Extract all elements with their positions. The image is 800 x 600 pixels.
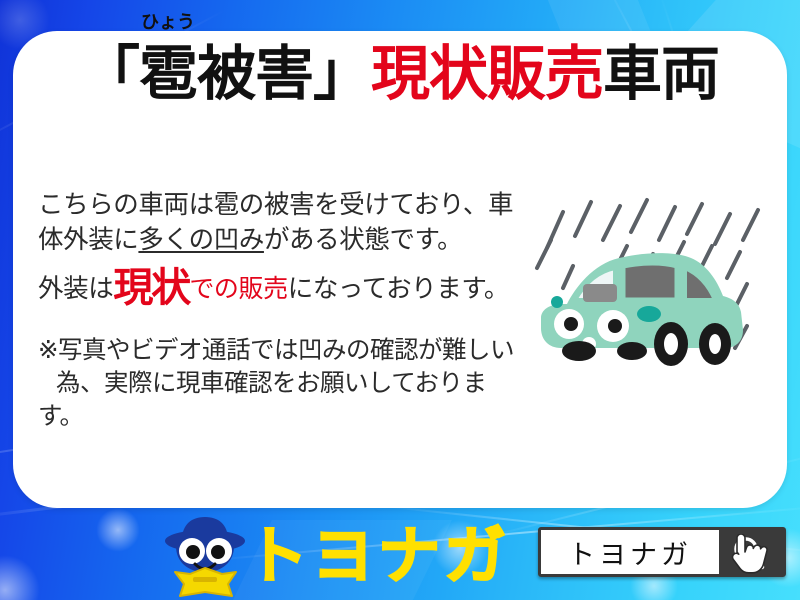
search-input-value: トヨナガ <box>568 533 692 572</box>
toyonaga-mascot-icon <box>162 514 248 598</box>
note-line-2: 為、実際に現車確認をお願いしております。 <box>38 368 487 430</box>
title-segment-black-2: 車両 <box>603 39 719 108</box>
paragraph2-emphasis-hanbai: での販売 <box>189 274 287 303</box>
brand-logo[interactable]: トヨナガ <box>162 514 510 598</box>
title-segment-black-1: 被害 <box>197 39 313 108</box>
paragraph-as-is-sale: 外装は現状での販売になっております。 <box>38 272 528 305</box>
hail-car-illustration <box>531 196 781 401</box>
title-furigana: ひょう <box>141 14 195 32</box>
car-mirror <box>551 296 563 308</box>
title-ruby-host: ひょう雹 <box>139 44 197 103</box>
screenshot-root: 「ひょう雹被害」現状販売車両 こちらの車両は雹の被害を受けており、車体外装に多く… <box>0 0 800 600</box>
search-button[interactable] <box>719 530 783 574</box>
pointer-hand-cursor-icon <box>729 534 769 578</box>
paragraph1-underlined-phrase: 多くの凹み <box>138 225 264 255</box>
paragraph-inspection-note: ※写真やビデオ通話では凹みの確認が難しい 為、実際に現車確認をお願いしております… <box>38 333 528 432</box>
car-door-handle <box>637 306 661 322</box>
footer-branding-bar: トヨナガ トヨナガ <box>0 508 800 600</box>
title-bracket-close: 」 <box>313 39 371 108</box>
page-title: 「ひょう雹被害」現状販売車両 <box>13 44 787 103</box>
search-input[interactable]: トヨナガ <box>541 530 719 574</box>
title-segment-red: 現状販売 <box>371 39 603 108</box>
paragraph2-suffix: になっております。 <box>288 274 509 304</box>
title-ruby-base: 雹 <box>139 39 197 108</box>
paragraph-damage-description: こちらの車両は雹の被害を受けており、車体外装に多くの凹みがある状態です。 <box>38 188 528 257</box>
paragraph2-emphasis-genjou: 現状 <box>113 265 189 311</box>
title-bracket-open: 「 <box>81 39 139 108</box>
note-line-1: ※写真やビデオ通話では凹みの確認が難しい <box>38 335 514 364</box>
paragraph1-line2-suffix: がある状態です。 <box>264 225 462 255</box>
paragraph2-prefix: 外装は <box>38 274 113 304</box>
body-text-block: こちらの車両は雹の被害を受けており、車体外装に多くの凹みがある状態です。 外装は… <box>38 188 528 432</box>
brand-logo-text: トヨナガ <box>246 525 510 587</box>
search-bar[interactable]: トヨナガ <box>538 527 786 577</box>
paragraph1-line2-prefix: 外装に <box>63 225 138 255</box>
